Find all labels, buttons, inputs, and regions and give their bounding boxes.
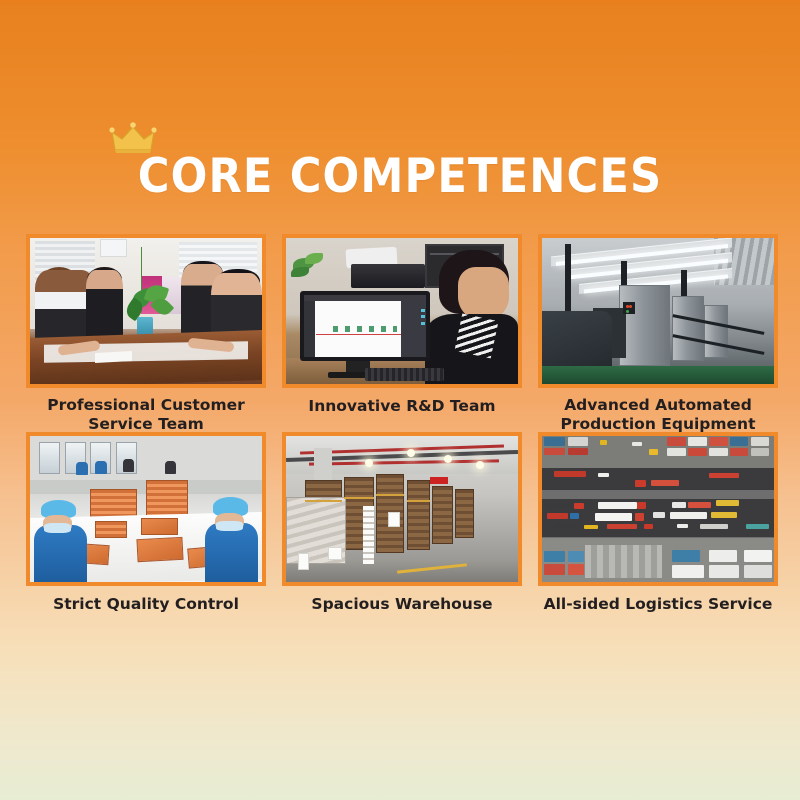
photo-warehouse-pallets xyxy=(286,436,518,582)
page-title: CORE COMPETENCES xyxy=(138,150,662,204)
card-caption: All-sided Logistics Service xyxy=(538,586,778,630)
card-image-frame[interactable] xyxy=(26,234,266,388)
caption-line: Advanced Automated xyxy=(538,396,778,415)
caption-line: All-sided Logistics Service xyxy=(538,595,778,614)
competence-grid: Professional Customer Service Team xyxy=(26,234,774,630)
page-header: CORE COMPETENCES xyxy=(0,150,800,204)
card-image-frame[interactable] xyxy=(26,432,266,586)
caption-line: Professional Customer xyxy=(26,396,266,415)
photo-customer-service-meeting xyxy=(30,238,262,384)
caption-line: Strict Quality Control xyxy=(26,595,266,614)
card-strict-quality-control[interactable]: Strict Quality Control xyxy=(26,432,266,630)
card-innovative-rd-team[interactable]: Innovative R&D Team xyxy=(282,234,522,432)
card-caption: Strict Quality Control xyxy=(26,586,266,630)
photo-quality-inspection-line xyxy=(30,436,262,582)
card-image-frame[interactable] xyxy=(538,432,778,586)
card-caption: Innovative R&D Team xyxy=(282,388,522,432)
photo-aerial-container-yard xyxy=(542,436,774,582)
card-spacious-warehouse[interactable]: Spacious Warehouse xyxy=(282,432,522,630)
photo-printing-press-hall xyxy=(542,238,774,384)
caption-line: Innovative R&D Team xyxy=(282,397,522,416)
card-all-sided-logistics-service[interactable]: All-sided Logistics Service xyxy=(538,432,778,630)
card-image-frame[interactable] xyxy=(282,432,522,586)
card-professional-customer-service-team[interactable]: Professional Customer Service Team xyxy=(26,234,266,432)
caption-line: Spacious Warehouse xyxy=(282,595,522,614)
photo-designer-at-computer xyxy=(286,238,518,384)
card-advanced-automated-production-equipment[interactable]: Advanced Automated Production Equipment xyxy=(538,234,778,432)
card-image-frame[interactable] xyxy=(282,234,522,388)
card-caption: Advanced Automated Production Equipment xyxy=(538,388,778,432)
card-caption: Spacious Warehouse xyxy=(282,586,522,630)
card-image-frame[interactable] xyxy=(538,234,778,388)
card-caption: Professional Customer Service Team xyxy=(26,388,266,432)
